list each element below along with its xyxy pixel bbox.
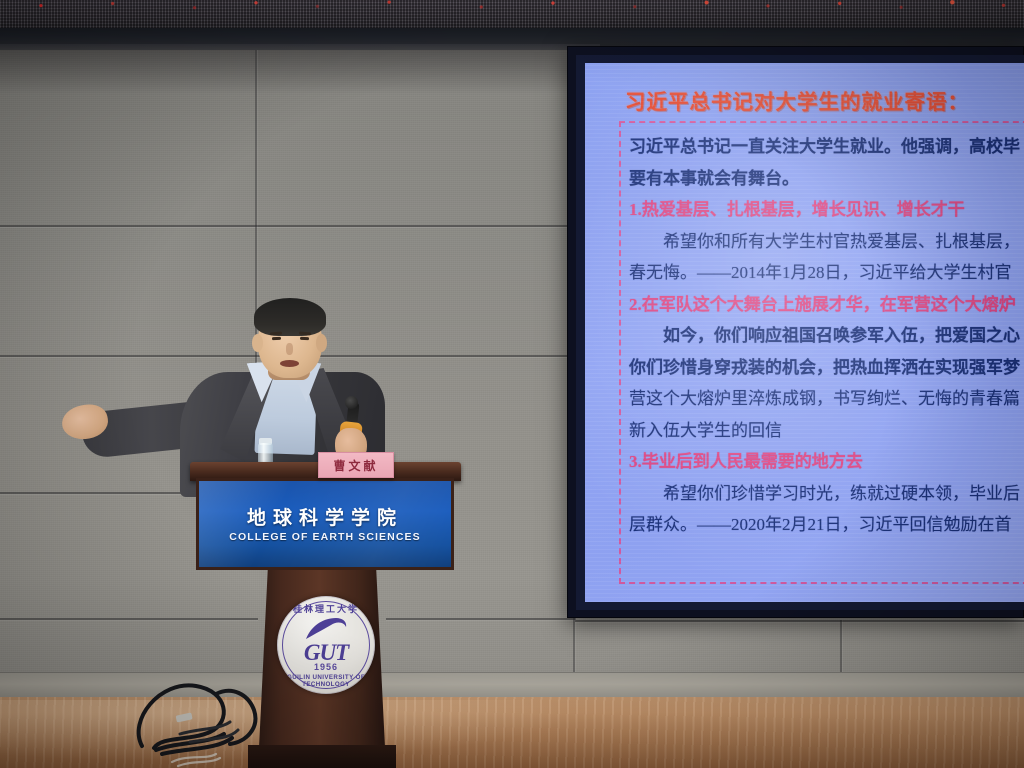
slide-line: 要有本事就会有舞台。 — [629, 163, 1024, 195]
speaker-mouth — [280, 360, 299, 367]
slide-line: 希望你和所有大学生村官热爱基层、扎根基层， — [629, 226, 1024, 258]
slide-line: 新入伍大学生的回信 — [629, 415, 1024, 447]
wall-seam-horizontal — [0, 618, 258, 620]
slide-line: 层群众。——2020年2月21日，习近平回信勉励在首 — [629, 509, 1024, 541]
floor-cables-icon — [120, 650, 360, 768]
speaker-nose — [286, 343, 293, 355]
speaker-hair — [254, 298, 326, 336]
wall-seam-horizontal — [575, 620, 1024, 622]
microphone-capsule-icon — [345, 396, 358, 409]
seal-university-name-cn: 桂林理工大学 — [277, 602, 375, 615]
slide-line: 希望你们珍惜学习时光，练就过硬本领，毕业后 — [629, 478, 1024, 510]
podium-college-name-en: COLLEGE OF EARTH SCIENCES — [199, 531, 451, 543]
speaker-eye-left — [272, 337, 281, 340]
speaker-name-card-label: 曹文献 — [333, 457, 378, 474]
speaker-eye-right — [300, 337, 309, 340]
slide-line: 如今，你们响应祖国召唤参军入伍，把爱国之心 — [629, 320, 1024, 352]
slide-line-heading: 1.热爱基层、扎根基层，增长见识、增长才干 — [629, 194, 1024, 226]
slide-line-heading: 3.毕业后到人民最需要的地方去 — [629, 446, 1024, 478]
slide-line: 营这个大熔炉里淬炼成钢，书写绚烂、无悔的青春篇 — [629, 383, 1024, 415]
speaker-ear-left — [252, 334, 263, 352]
slide-title: 习近平总书记对大学生的就业寄语： — [625, 85, 1024, 115]
wall-seam-horizontal — [0, 225, 575, 227]
lecture-hall-scene: 习近平总书记对大学生的就业寄语： 习近平总书记一直关注大学生就业。他强调，高校毕… — [0, 0, 1024, 768]
speaker-name-card: 曹文献 — [318, 452, 394, 478]
podium-banner: 地球科学学院 COLLEGE OF EARTH SCIENCES — [196, 478, 454, 570]
speaker-ear-right — [316, 334, 327, 352]
presentation-slide[interactable]: 习近平总书记对大学生的就业寄语： 习近平总书记一直关注大学生就业。他强调，高校毕… — [585, 63, 1024, 602]
led-red-dots — [0, 0, 1024, 14]
ceiling-led-panel — [0, 0, 1024, 30]
podium-college-name-cn: 地球科学学院 — [199, 503, 451, 530]
wall-seam-horizontal — [386, 618, 576, 620]
slide-body-text: 习近平总书记一直关注大学生就业。他强调，高校毕 要有本事就会有舞台。 1.热爱基… — [629, 131, 1024, 541]
slide-line-heading: 2.在军队这个大舞台上施展才华，在军营这个大熔炉 — [629, 289, 1024, 321]
slide-line: 你们珍惜身穿戎装的机会，把热血挥洒在实现强军梦 — [629, 352, 1024, 384]
slide-line: 习近平总书记一直关注大学生就业。他强调，高校毕 — [629, 131, 1024, 163]
slide-line: 春无悔。——2014年1月28日，习近平给大学生村官 — [629, 257, 1024, 289]
